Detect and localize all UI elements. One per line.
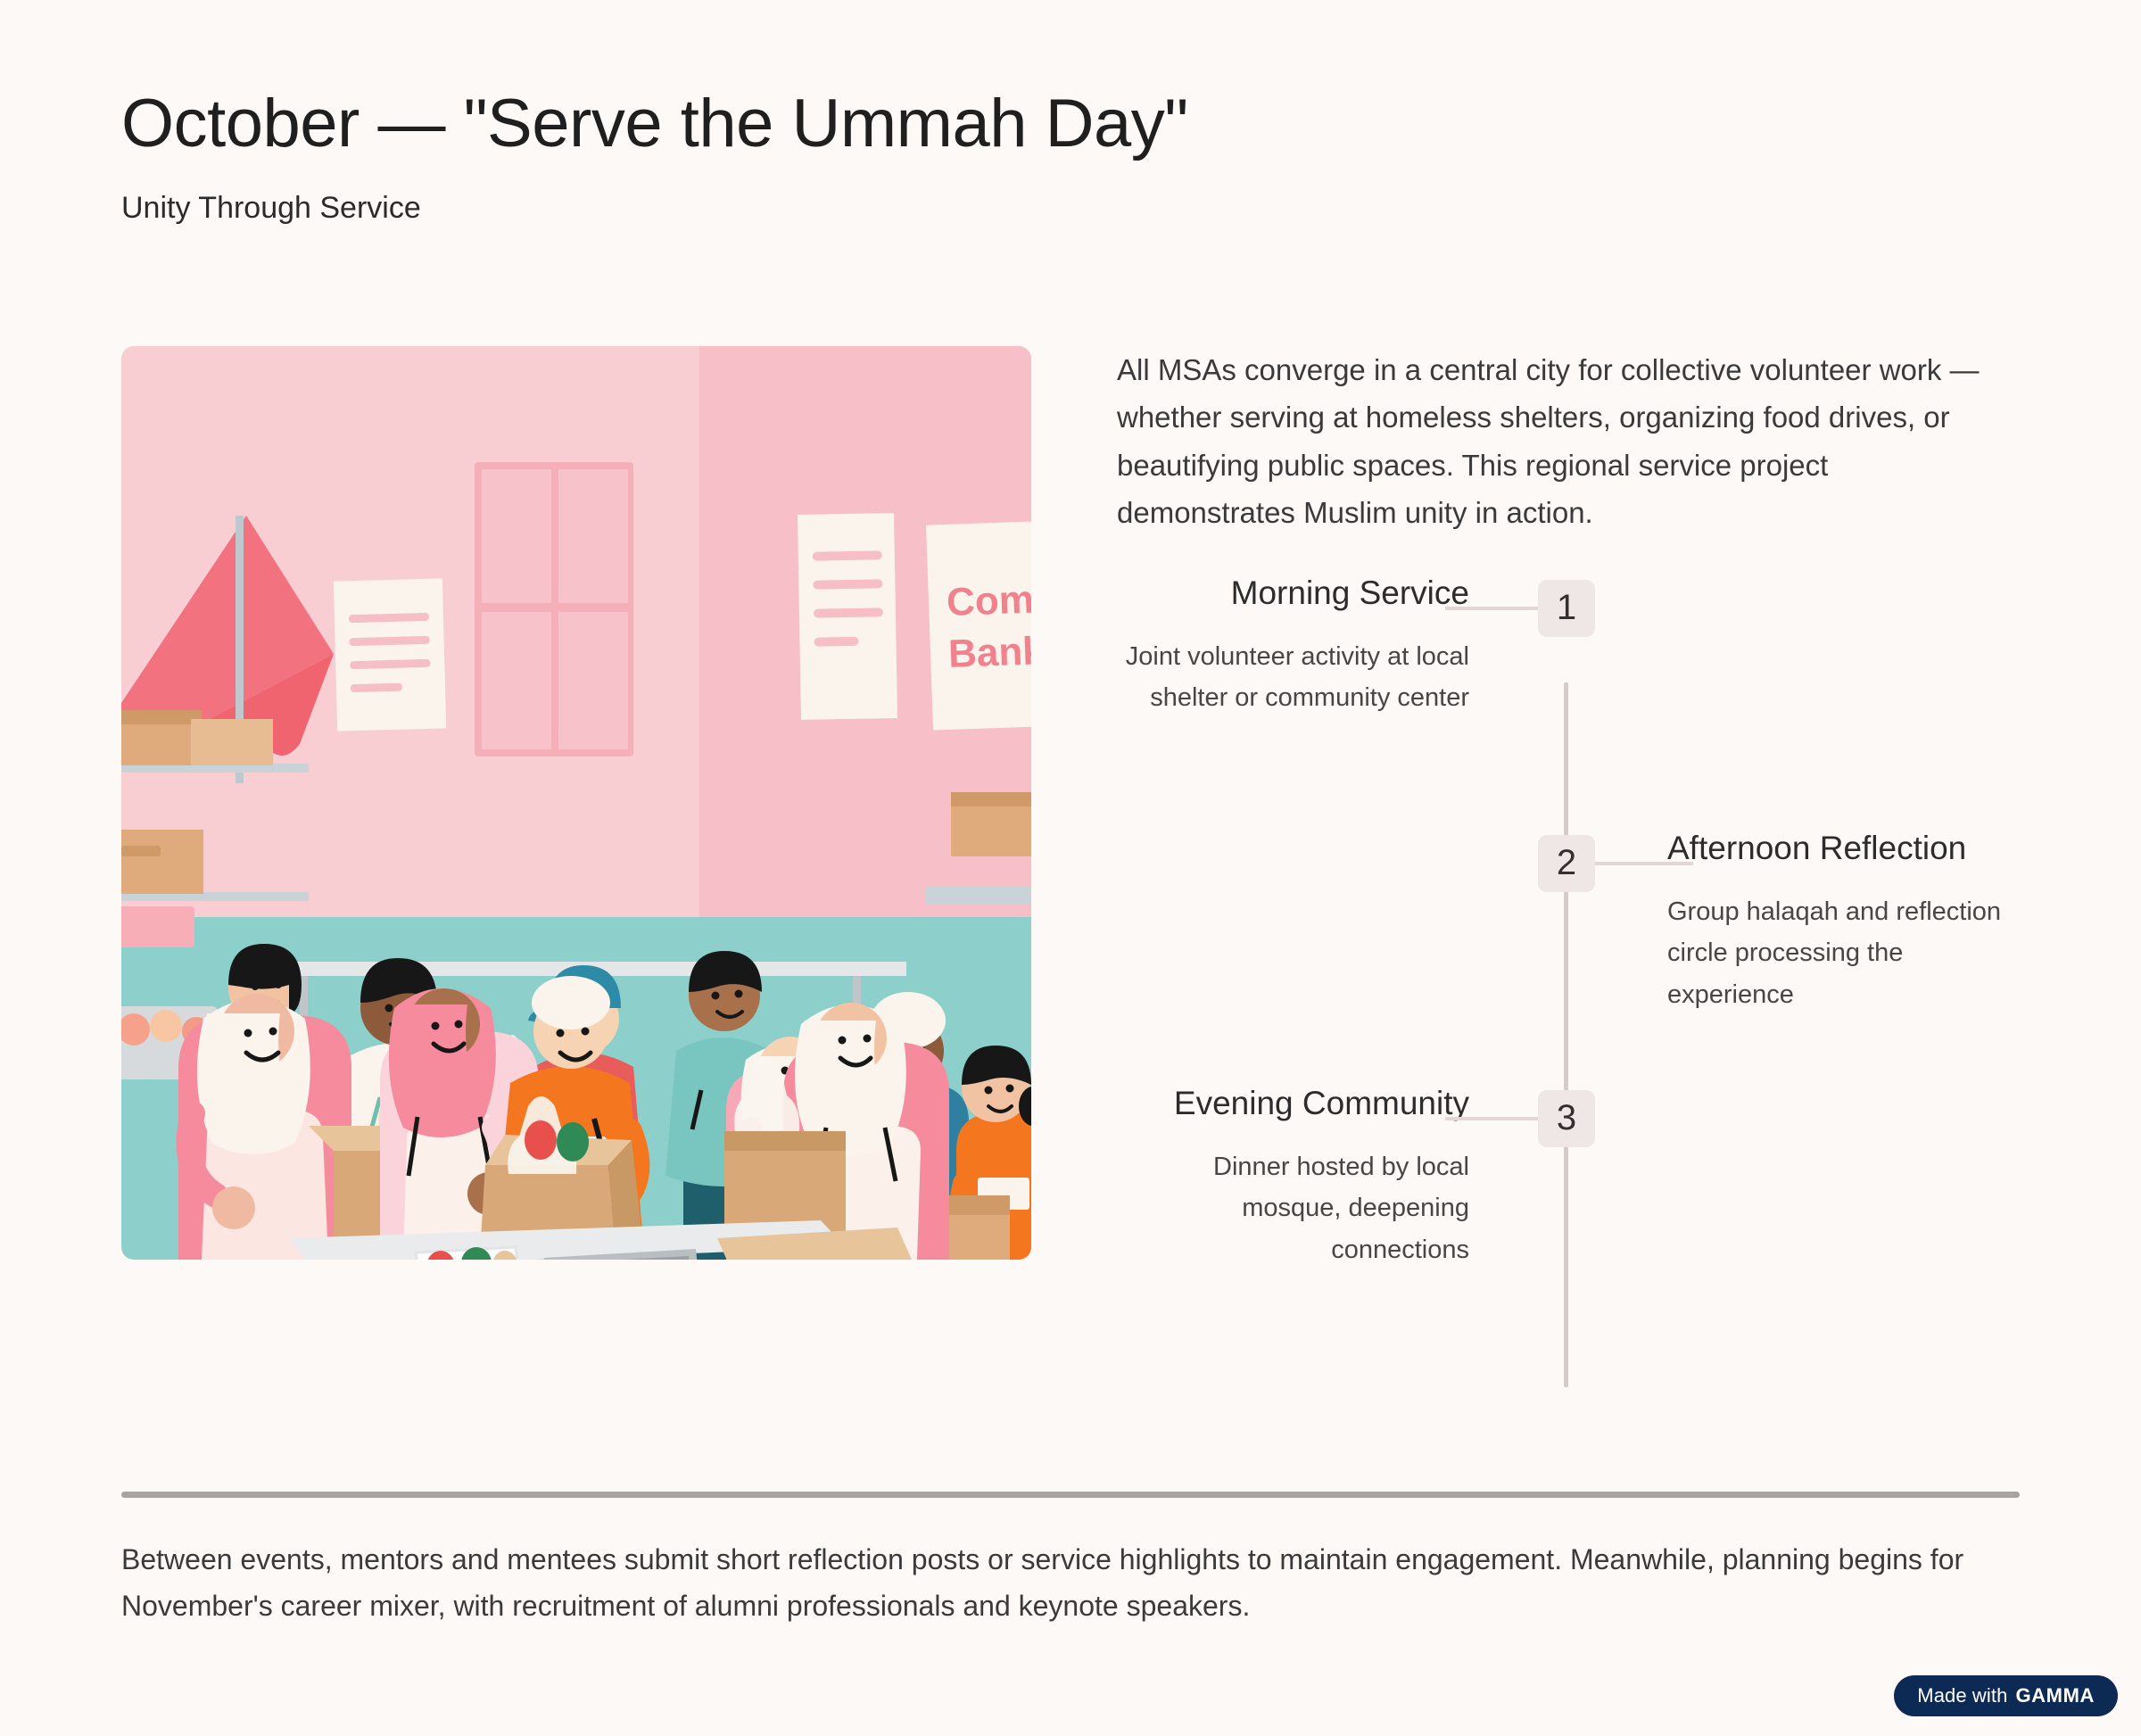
food-bank-illustration: Comm Bank	[121, 346, 1031, 1260]
footer-text: Between events, mentors and mentees subm…	[121, 1537, 2021, 1630]
timeline-connector-1	[1445, 607, 1538, 610]
timeline-axis	[1564, 682, 1568, 1387]
made-with-gamma-badge[interactable]: Made with GAMMA	[1894, 1675, 2118, 1716]
right-column: All MSAs converge in a central city for …	[1117, 346, 2020, 1260]
page-title: October — "Serve the Ummah Day"	[121, 86, 2021, 161]
page-subtitle: Unity Through Service	[121, 190, 2021, 227]
body-row: Comm Bank	[121, 346, 2020, 1274]
timeline-step-3-description: Dinner hosted by local mosque, deepening…	[1117, 1146, 1469, 1270]
timeline: 1 Morning Service Joint volunteer activi…	[1117, 580, 2020, 1329]
illustration-sign-line2: Bank	[947, 629, 1031, 676]
illustration-sign-line1: Comm	[946, 576, 1031, 624]
badge-prefix-label: Made with	[1917, 1684, 2007, 1707]
timeline-step-2-heading: Afternoon Reflection	[1667, 828, 2020, 868]
timeline-step-2: Afternoon Reflection Group halaqah and r…	[1667, 828, 2020, 1015]
lead-paragraph: All MSAs converge in a central city for …	[1117, 346, 1996, 537]
timeline-step-2-description: Group halaqah and reflection circle proc…	[1667, 891, 2020, 1015]
timeline-step-2-number[interactable]: 2	[1538, 835, 1595, 892]
slide-root: October — "Serve the Ummah Day" Unity Th…	[0, 0, 2141, 1736]
timeline-step-1-heading: Morning Service	[1117, 573, 1469, 613]
timeline-connector-2	[1595, 862, 1693, 865]
section-divider	[121, 1492, 2020, 1498]
header: October — "Serve the Ummah Day" Unity Th…	[121, 86, 2021, 227]
illustration-container: Comm Bank	[121, 346, 1031, 1260]
timeline-step-3-number[interactable]: 3	[1538, 1090, 1595, 1147]
timeline-step-1-description: Joint volunteer activity at local shelte…	[1117, 636, 1469, 719]
timeline-step-3-heading: Evening Community	[1117, 1083, 1469, 1123]
timeline-connector-3	[1445, 1117, 1538, 1120]
badge-brand-label: GAMMA	[2015, 1684, 2095, 1707]
timeline-step-1-number[interactable]: 1	[1538, 580, 1595, 637]
timeline-step-1: Morning Service Joint volunteer activity…	[1117, 573, 1469, 719]
timeline-step-3: Evening Community Dinner hosted by local…	[1117, 1083, 1469, 1270]
